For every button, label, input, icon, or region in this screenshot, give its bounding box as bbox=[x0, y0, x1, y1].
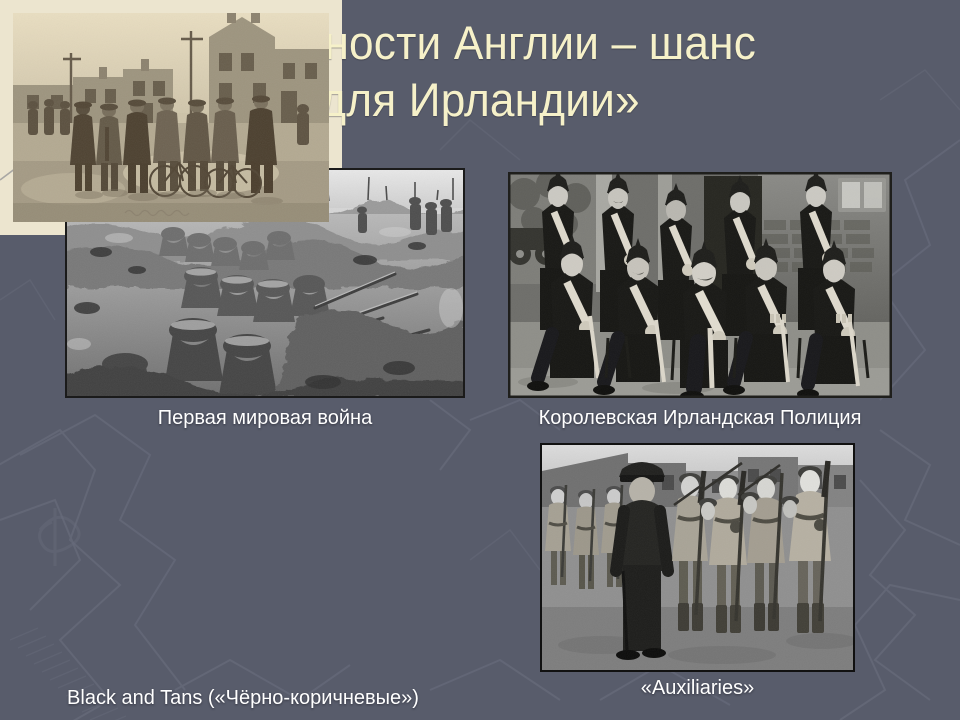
caption-royal-irish-constabulary: Королевская Ирландская Полиция bbox=[440, 406, 960, 430]
royal-irish-constabulary-photo bbox=[508, 172, 892, 398]
black-and-tans-photo-image bbox=[13, 13, 329, 222]
auxiliaries-photo bbox=[540, 443, 855, 672]
caption-auxiliaries: «Auxiliaries» bbox=[535, 676, 860, 700]
caption-black-and-tans: Black and Tans («Чёрно-коричневые») bbox=[0, 686, 486, 710]
presentation-slide: «Трудности Англии – шанс для Ирландии» bbox=[0, 0, 960, 720]
black-and-tans-photo bbox=[0, 0, 342, 235]
